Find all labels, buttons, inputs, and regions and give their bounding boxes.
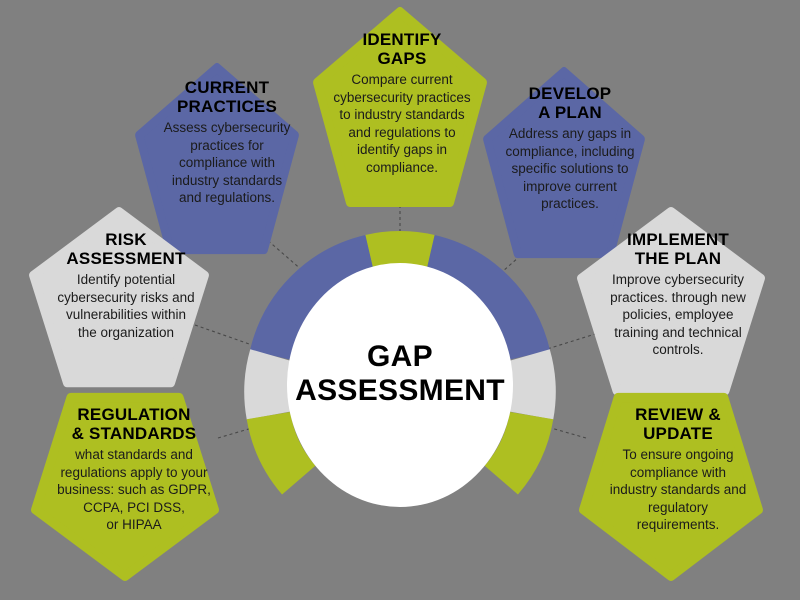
node-develop-a-plan[interactable]: DEVELOP A PLAN Address any gaps in compl… [490, 84, 650, 213]
node-identify-gaps-body: Compare current cybersecurity practices … [333, 71, 470, 176]
node-implement-the-plan[interactable]: IMPLEMENT THE PLAN Improve cybersecurity… [588, 230, 768, 359]
node-identify-gaps[interactable]: IDENTIFY GAPS Compare current cybersecur… [316, 30, 488, 176]
ring-segment-left-gray [266, 355, 271, 415]
node-develop-a-plan-title: DEVELOP A PLAN [529, 84, 612, 122]
node-identify-gaps-title: IDENTIFY GAPS [362, 30, 441, 68]
node-review-update[interactable]: REVIEW & UPDATE To ensure ongoing compli… [592, 405, 764, 534]
node-current-practices-body: Assess cybersecurity practices for compl… [164, 119, 291, 207]
node-implement-the-plan-title: IMPLEMENT THE PLAN [627, 230, 729, 268]
ring-segment-right-gray [529, 355, 534, 415]
ring-segment-top-green [370, 253, 429, 256]
center-title: GAP ASSESSMENT [280, 340, 520, 407]
node-current-practices-title: CURRENT PRACTICES [177, 78, 277, 116]
node-implement-the-plan-body: Improve cybersecurity practices. through… [610, 271, 746, 359]
node-current-practices[interactable]: CURRENT PRACTICES Assess cybersecurity p… [145, 78, 309, 207]
node-risk-assessment-body: Identify potential cybersecurity risks a… [57, 271, 194, 341]
node-regulation-standards-body: what standards and regulations apply to … [57, 446, 211, 534]
node-develop-a-plan-body: Address any gaps in compliance, includin… [505, 125, 634, 213]
node-regulation-standards[interactable]: REGULATION & STANDARDS what standards an… [44, 405, 224, 534]
node-review-update-body: To ensure ongoing compliance with indust… [610, 446, 747, 534]
diagram-canvas: IDENTIFY GAPS Compare current cybersecur… [0, 0, 800, 600]
node-risk-assessment-title: RISK ASSESSMENT [66, 230, 185, 268]
node-regulation-standards-title: REGULATION & STANDARDS [72, 405, 197, 443]
node-review-update-title: REVIEW & UPDATE [635, 405, 721, 443]
node-risk-assessment[interactable]: RISK ASSESSMENT Identify potential cyber… [40, 230, 212, 341]
